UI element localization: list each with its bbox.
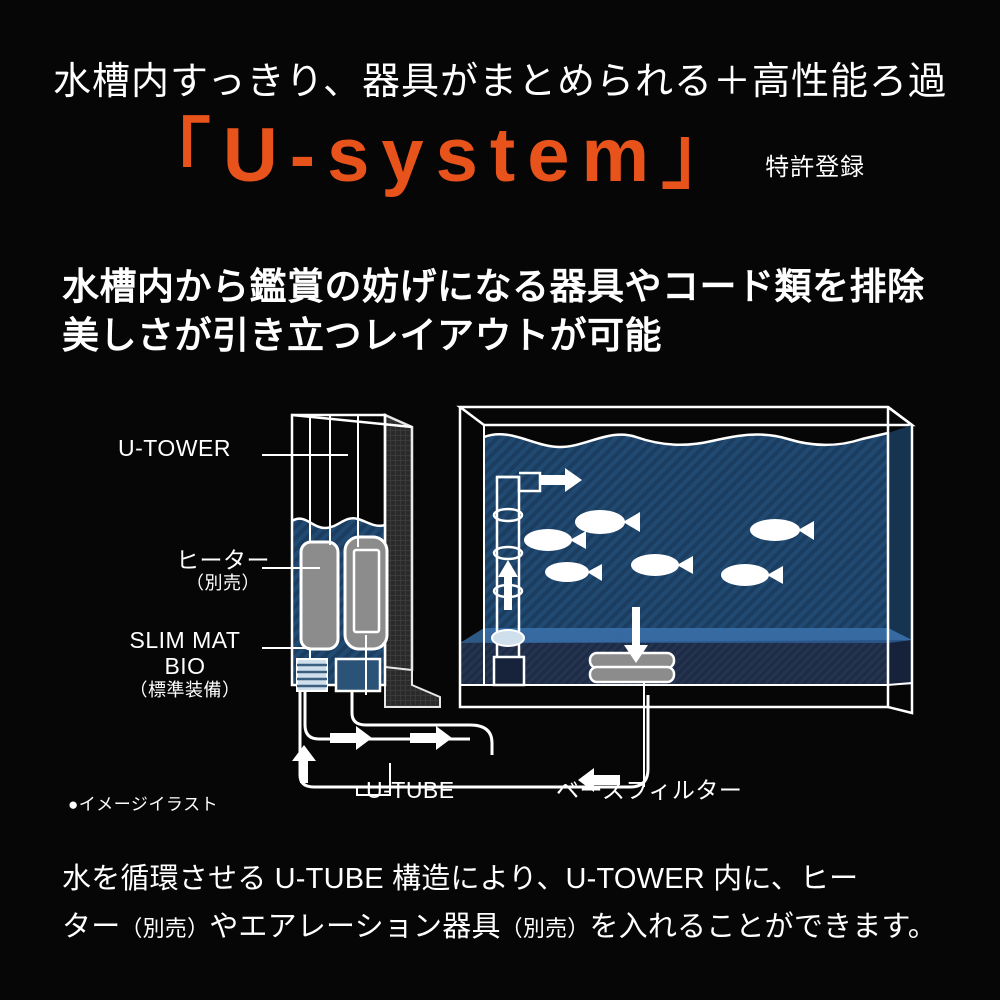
system-diagram: U-TOWER ヒーター （別売） SLIM MAT BIO （標準装備） U-… — [0, 395, 1000, 815]
footer-line-1: 水を循環させる U-TUBE 構造により、U-TOWER 内に、ヒー — [62, 856, 962, 904]
brand-row: 「U-system」 特許登録 — [0, 118, 1000, 194]
subtitle-line-1: 水槽内から鑑賞の妨げになる器具やコード類を排除 — [62, 262, 962, 311]
pump-unit — [336, 659, 380, 691]
label-heater: ヒーター — [176, 547, 270, 573]
brand-name: U-system — [223, 113, 661, 198]
riser-outlet-ellipse — [492, 630, 524, 646]
label-heater-group: ヒーター （別売） — [168, 547, 278, 594]
utube-arrow-right-1 — [330, 726, 372, 750]
label-u-tower: U-TOWER — [118, 435, 231, 461]
patent-badge: 特許登録 — [765, 147, 865, 194]
heater-device — [301, 542, 338, 649]
footer-line-2-e: を入れることができます。 — [589, 911, 937, 943]
image-disclaimer: ●イメージイラスト — [68, 790, 218, 815]
footer-block: 水を循環させる U-TUBE 構造により、U-TOWER 内に、ヒー ター（別売… — [62, 856, 962, 952]
label-slim-mat-1: SLIM MAT — [130, 627, 241, 653]
label-slim-mat-group: SLIM MAT BIO （標準装備） — [110, 627, 260, 701]
label-heater-note: （別売） — [168, 573, 278, 594]
tower-side-foot — [385, 667, 440, 707]
subtitle-block: 水槽内から鑑賞の妨げになる器具やコード類を排除 美しさが引き立つレイアウトが可能 — [62, 262, 962, 360]
label-base-filter: ベースフィルター — [556, 777, 742, 803]
brand-close-bracket: 」 — [661, 113, 749, 198]
substrate-layer — [460, 643, 912, 685]
footer-line-2-d: （別売） — [501, 916, 590, 941]
footer-line-2: ター（別売）やエアレーション器具（別売）を入れることができます。 — [62, 904, 962, 952]
footer-line-2-b: （別売） — [120, 916, 209, 941]
header-tagline: 水槽内すっきり、器具がまとめられる＋高性能ろ過 — [0, 50, 1000, 105]
tank-water-surface — [484, 433, 888, 447]
label-slim-mat-note: （標準装備） — [110, 680, 260, 701]
utube-arrow-right-2 — [410, 726, 452, 750]
poster-root: 水槽内すっきり、器具がまとめられる＋高性能ろ過 「U-system」 特許登録 … — [0, 0, 1000, 1000]
tower-side-panel — [385, 415, 412, 680]
subtitle-line-2: 美しさが引き立つレイアウトが可能 — [62, 311, 962, 360]
label-u-tube: U-TUBE — [366, 777, 455, 803]
substrate-side — [888, 640, 912, 685]
label-slim-mat-2: BIO — [110, 653, 260, 679]
base-filter-unit — [590, 653, 674, 682]
footer-line-2-a: ター — [62, 911, 120, 943]
brand-title: 「U-system」 — [135, 118, 749, 194]
riser-base-box — [494, 657, 524, 685]
utube-arrow-up-left — [292, 745, 316, 783]
footer-line-2-c: やエアレーション器具 — [209, 911, 500, 943]
slim-mat-bio-unit — [297, 659, 327, 691]
tank-top-rim — [460, 407, 912, 425]
brand-open-bracket: 「 — [135, 113, 223, 198]
tank-side-water — [888, 425, 912, 645]
